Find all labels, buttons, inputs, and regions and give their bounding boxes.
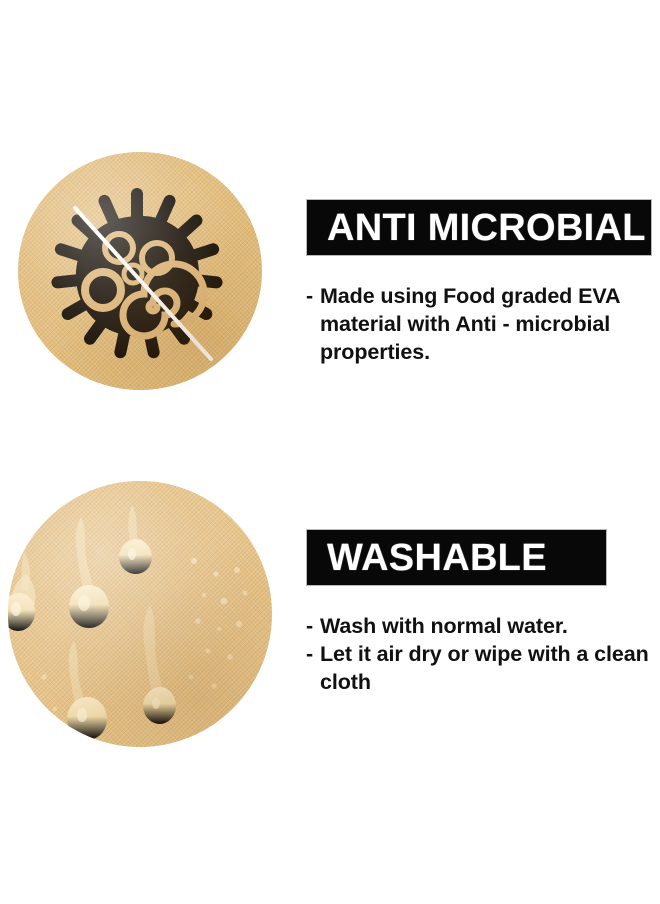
bullet-list-antimicrobial: - Made using Food graded EVA material wi…	[306, 282, 658, 366]
bullet-text: Made using Food graded EVA material with…	[320, 282, 658, 366]
swatch-washable	[8, 481, 272, 747]
swatch-antimicrobial	[18, 152, 262, 390]
bullet-dash: -	[306, 282, 320, 310]
banner-label-washable: WASHABLE	[327, 539, 547, 577]
bullet-item: - Made using Food graded EVA material wi…	[306, 282, 658, 366]
feature-block-washable: WASHABLE - Wash with normal water. - Let…	[0, 460, 660, 760]
bullet-item: - Let it air dry or wipe with a clean cl…	[306, 640, 658, 696]
droplet-column-3	[119, 505, 176, 724]
bullet-dash: -	[306, 640, 320, 668]
droplet-column-2	[67, 517, 109, 740]
infographic-page: ANTI MICROBIAL - Made using Food graded …	[0, 0, 660, 904]
bullet-text: Wash with normal water.	[320, 612, 658, 640]
water-droplets-icon	[8, 481, 272, 747]
bullet-dash: -	[306, 612, 320, 640]
bullet-list-washable: - Wash with normal water. - Let it air d…	[306, 612, 658, 696]
banner-antimicrobial: ANTI MICROBIAL	[306, 199, 652, 256]
feature-block-antimicrobial: ANTI MICROBIAL - Made using Food graded …	[0, 130, 660, 430]
microbe-crossed-out-icon	[18, 152, 262, 390]
bullet-text: Let it air dry or wipe with a clean clot…	[320, 640, 658, 696]
droplet-large-left	[8, 551, 35, 631]
banner-washable: WASHABLE	[306, 529, 607, 586]
banner-label-antimicrobial: ANTI MICROBIAL	[327, 209, 646, 247]
bullet-item: - Wash with normal water.	[306, 612, 658, 640]
